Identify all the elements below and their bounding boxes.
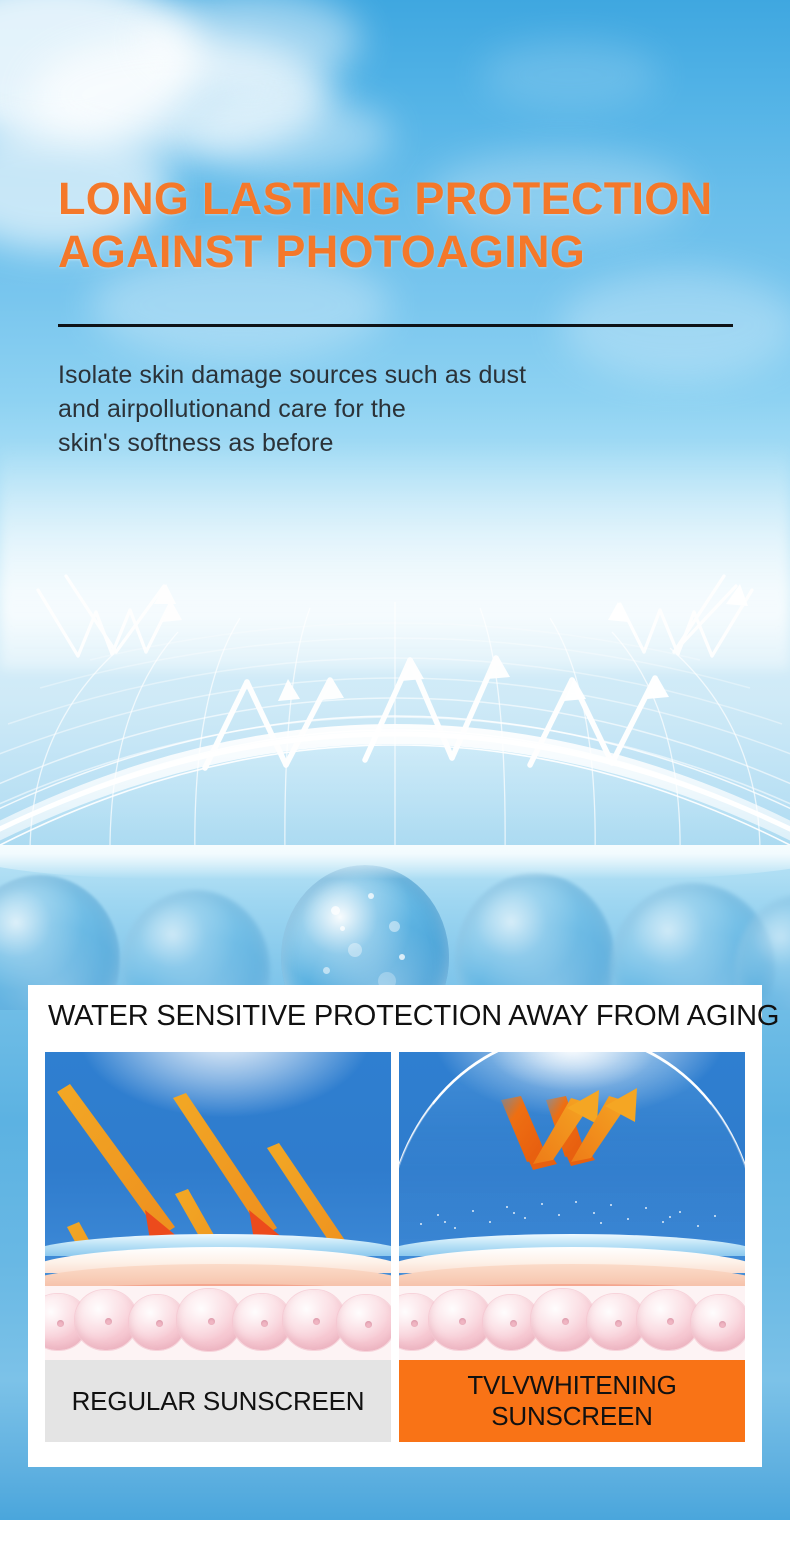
cloud-icon — [190, 95, 390, 175]
comparison-panels: REGULAR SUNSCREEN — [45, 1052, 745, 1442]
uv-rays-penetrating-skin-icon — [45, 1052, 391, 1360]
skin-cross-section — [399, 1234, 745, 1360]
title-divider — [58, 324, 733, 327]
fat-cell-layer — [399, 1286, 745, 1360]
cloud-icon — [480, 40, 660, 110]
panel-regular-sunscreen[interactable]: REGULAR SUNSCREEN — [45, 1052, 391, 1442]
uv-rays-deflected-by-shield-icon — [399, 1052, 745, 1360]
page-subtitle: Isolate skin damage sources such as dust… — [58, 358, 698, 460]
cloud-icon — [140, 0, 360, 90]
cloud-icon — [30, 35, 330, 155]
dome-grid-icon — [0, 560, 790, 880]
skin-cross-section — [45, 1234, 391, 1360]
droplet-top-rim — [0, 845, 790, 879]
panel-label-tvlvwhitening: TVLVWHITENING SUNSCREEN — [399, 1360, 745, 1442]
comparison-card: WATER SENSITIVE PROTECTION AWAY FROM AGI… — [28, 985, 762, 1467]
page-title: LONG LASTING PROTECTION AGAINST PHOTOAGI… — [58, 172, 758, 278]
panel-tvlvwhitening-sunscreen[interactable]: TVLVWHITENING SUNSCREEN — [399, 1052, 745, 1442]
bottom-white-strip — [0, 1520, 790, 1549]
protective-dome-illustration — [0, 560, 790, 880]
page-root: LONG LASTING PROTECTION AGAINST PHOTOAGI… — [0, 0, 790, 1549]
cloud-icon — [0, 0, 200, 145]
comparison-title: WATER SENSITIVE PROTECTION AWAY FROM AGI… — [48, 999, 748, 1033]
fat-cell-layer — [45, 1286, 391, 1360]
panel-label-regular: REGULAR SUNSCREEN — [45, 1360, 391, 1442]
